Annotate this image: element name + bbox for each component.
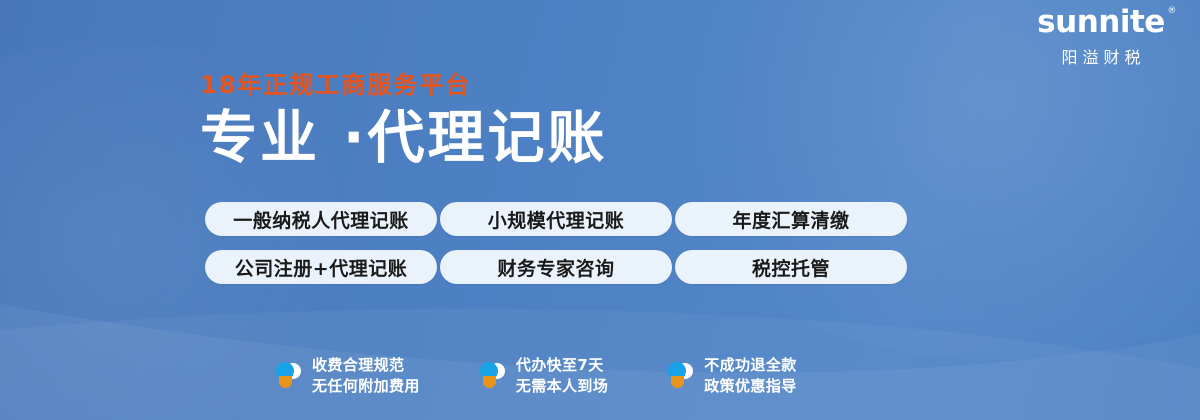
- feature-line-2: 政策优惠指导: [704, 376, 796, 398]
- moon-dot-icon: [479, 360, 507, 392]
- service-pill[interactable]: 一般纳税人代理记账: [205, 202, 437, 236]
- headline-block: 18年正规工商服务平台 专业 ·代理记账: [200, 72, 608, 170]
- brand-wordmark-text: sunnite: [1037, 4, 1165, 40]
- feature-line-1: 代办快至7天: [516, 355, 608, 377]
- feature-text: 代办快至7天 无需本人到场: [516, 355, 608, 399]
- feature-list: 收费合理规范 无任何附加费用 代办快至7天 无需本人到场 不成功退全款 政策优惠…: [275, 355, 797, 399]
- moon-dot-icon: [667, 360, 695, 392]
- service-pill[interactable]: 税控托管: [675, 250, 907, 284]
- feature-text: 收费合理规范 无任何附加费用: [312, 355, 420, 399]
- promo-banner: sunnite ® 阳溢财税 18年正规工商服务平台 专业 ·代理记账 一般纳税…: [0, 0, 1200, 420]
- feature-item: 代办快至7天 无需本人到场: [479, 355, 608, 399]
- registered-trademark-icon: ®: [1167, 7, 1176, 16]
- feature-line-1: 不成功退全款: [704, 355, 796, 377]
- feature-item: 收费合理规范 无任何附加费用: [275, 355, 420, 399]
- brand-wordmark: sunnite ®: [1037, 6, 1165, 39]
- feature-line-2: 无需本人到场: [516, 376, 608, 398]
- service-pill-grid: 一般纳税人代理记账 小规模代理记账 年度汇算清缴 公司注册+代理记账 财务专家咨…: [205, 202, 907, 284]
- service-pill[interactable]: 公司注册+代理记账: [205, 250, 437, 284]
- service-pill[interactable]: 财务专家咨询: [440, 250, 672, 284]
- feature-item: 不成功退全款 政策优惠指导: [667, 355, 796, 399]
- headline-title: 专业 ·代理记账: [200, 107, 608, 170]
- brand-subtitle: 阳溢财税: [1016, 44, 1186, 68]
- feature-line-2: 无任何附加费用: [312, 376, 420, 398]
- service-pill[interactable]: 年度汇算清缴: [675, 202, 907, 236]
- feature-line-1: 收费合理规范: [312, 355, 420, 377]
- headline-eyebrow: 18年正规工商服务平台: [200, 72, 608, 98]
- moon-dot-icon: [275, 360, 303, 392]
- feature-text: 不成功退全款 政策优惠指导: [704, 355, 796, 399]
- brand-logo[interactable]: sunnite ® 阳溢财税: [1016, 6, 1186, 68]
- service-pill[interactable]: 小规模代理记账: [440, 202, 672, 236]
